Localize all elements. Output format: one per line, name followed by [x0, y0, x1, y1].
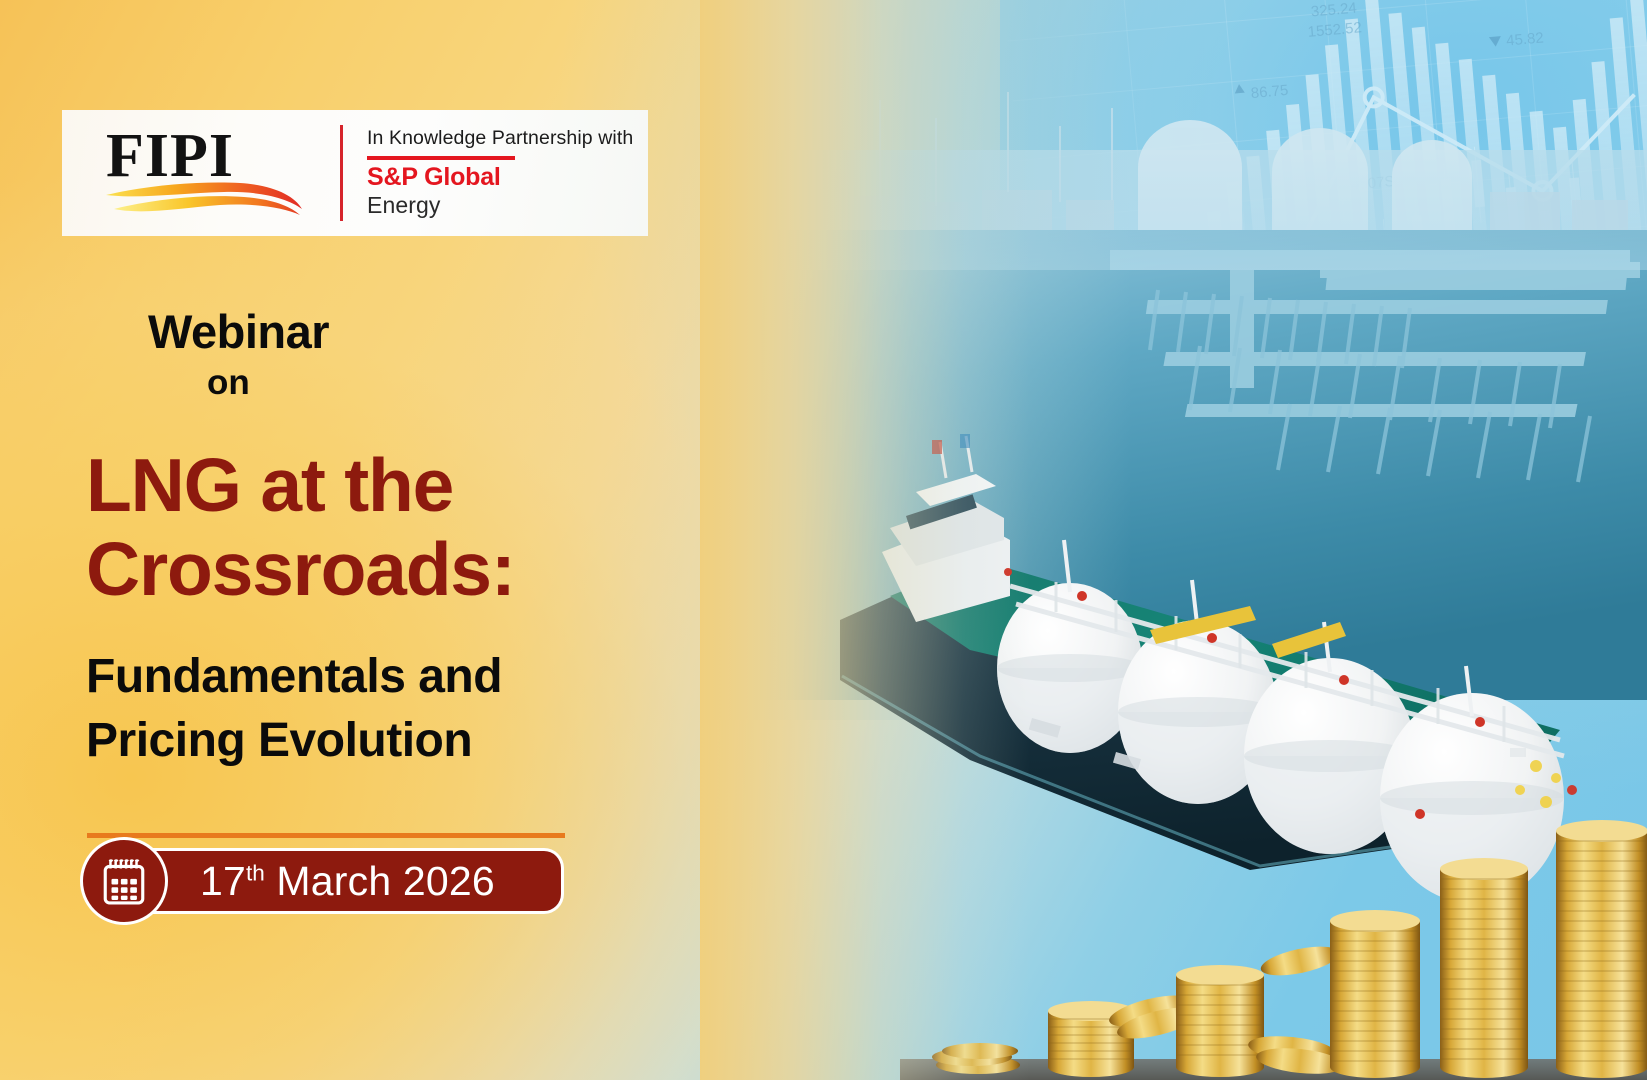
- gold-coin-stacks-image: [900, 775, 1647, 1080]
- sp-energy-wordmark: Energy: [367, 192, 633, 220]
- date-icon-circle: [80, 837, 168, 925]
- event-title-line-2: Crossroads:: [86, 527, 646, 611]
- flame-swoosh-icon: [104, 179, 304, 225]
- sp-global-logo: In Knowledge Partnership with S&P Global…: [367, 126, 633, 219]
- sp-global-wordmark: S&P Global: [367, 163, 633, 193]
- event-kicker: Webinar: [148, 308, 329, 355]
- section-divider: [87, 833, 565, 838]
- event-connector: on: [207, 365, 250, 400]
- date-day: 17: [200, 858, 246, 904]
- event-subtitle-line-1: Fundamentals and: [86, 645, 666, 709]
- date-ordinal: th: [246, 860, 265, 885]
- fipi-logo: FIPI: [106, 117, 302, 229]
- event-title-line-1: LNG at the: [86, 443, 646, 527]
- fipi-wordmark: FIPI: [106, 125, 302, 187]
- logo-vertical-divider: [340, 125, 343, 221]
- date-badge: 17th March 2026: [108, 848, 564, 914]
- partner-logo-box: FIPI: [62, 110, 648, 236]
- date-label: 17th March 2026: [200, 858, 495, 905]
- sp-red-rule: [367, 156, 515, 160]
- event-subtitle-line-2: Pricing Evolution: [86, 709, 666, 773]
- event-title: LNG at the Crossroads:: [86, 443, 646, 611]
- partnership-line: In Knowledge Partnership with: [367, 126, 633, 150]
- event-subtitle: Fundamentals and Pricing Evolution: [86, 645, 666, 774]
- calendar-icon: [99, 856, 149, 906]
- date-month-year: March 2026: [276, 858, 495, 904]
- webinar-poster: 86.75 45.82 325.24 1552.52 4507S: [0, 0, 1647, 1080]
